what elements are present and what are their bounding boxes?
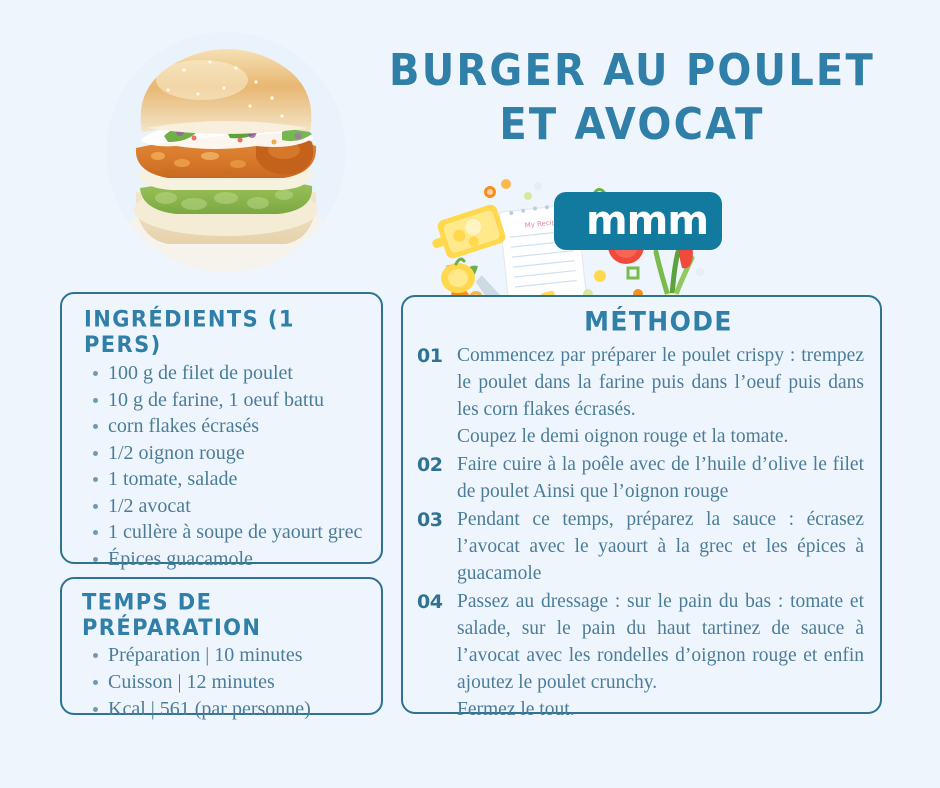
title-line-2: ET AVOCAT [372, 98, 892, 152]
step-text: Pendant ce temps, préparez la sauce : éc… [457, 506, 864, 587]
burger-photo [106, 32, 346, 272]
step-extra: Fermez le tout. [457, 696, 864, 723]
list-item: Épices guacamole [108, 546, 371, 573]
step-text: Faire cuire à la poêle avec de l’huile d… [457, 451, 864, 505]
step-number: 03 [417, 506, 457, 534]
method-heading: MÉTHODE [403, 306, 880, 337]
list-item: 10 g de farine, 1 oeuf battu [108, 387, 371, 414]
preparation-time-list: Préparation | 10 minutes Cuisson | 12 mi… [62, 642, 381, 723]
logo-text: mmm [568, 201, 708, 241]
preparation-time-panel: TEMPS DE PRÉPARATION Préparation | 10 mi… [60, 577, 383, 715]
list-item: Kcal | 561 (par personne) [108, 696, 371, 723]
step-text: Passez au dressage : sur le pain du bas … [457, 588, 864, 723]
list-item: 1/2 oignon rouge [108, 440, 371, 467]
method-step: 04 Passez au dressage : sur le pain du b… [417, 588, 864, 723]
step-body: Commencez par préparer le poulet crispy … [457, 345, 864, 420]
method-steps: 01 Commencez par préparer le poulet cris… [403, 342, 880, 723]
method-panel: MÉTHODE 01 Commencez par préparer le pou… [401, 295, 882, 714]
list-item: 1/2 avocat [108, 493, 371, 520]
list-item: corn flakes écrasés [108, 413, 371, 440]
burger-photo-image [106, 32, 346, 272]
step-text: Commencez par préparer le poulet crispy … [457, 342, 864, 450]
ingredients-list: 100 g de filet de poulet 10 g de farine,… [62, 360, 381, 572]
step-number: 02 [417, 451, 457, 479]
ingredients-panel: INGRÉDIENTS (1 PERS) 100 g de filet de p… [60, 292, 383, 564]
step-body: Passez au dressage : sur le pain du bas … [457, 591, 864, 693]
preparation-time-heading: TEMPS DE PRÉPARATION [82, 590, 381, 641]
page-title: BURGER AU POULET ET AVOCAT [372, 44, 892, 152]
method-step: 01 Commencez par préparer le poulet cris… [417, 342, 864, 450]
list-item: 1 cullère à soupe de yaourt grec [108, 519, 371, 546]
ingredients-heading: INGRÉDIENTS (1 PERS) [84, 307, 381, 358]
step-number: 01 [417, 342, 457, 370]
list-item: 1 tomate, salade [108, 466, 371, 493]
method-step: 02 Faire cuire à la poêle avec de l’huil… [417, 451, 864, 505]
list-item: Cuisson | 12 minutes [108, 669, 371, 696]
step-extra: Coupez le demi oignon rouge et la tomate… [457, 423, 864, 450]
step-number: 04 [417, 588, 457, 616]
method-step: 03 Pendant ce temps, préparez la sauce :… [417, 506, 864, 587]
title-line-1: BURGER AU POULET [372, 44, 892, 98]
recipe-card: BURGER AU POULET ET AVOCAT My Recipe [0, 0, 940, 788]
list-item: 100 g de filet de poulet [108, 360, 371, 387]
list-item: Préparation | 10 minutes [108, 642, 371, 669]
mmm-logo-badge[interactable]: mmm [554, 192, 722, 250]
